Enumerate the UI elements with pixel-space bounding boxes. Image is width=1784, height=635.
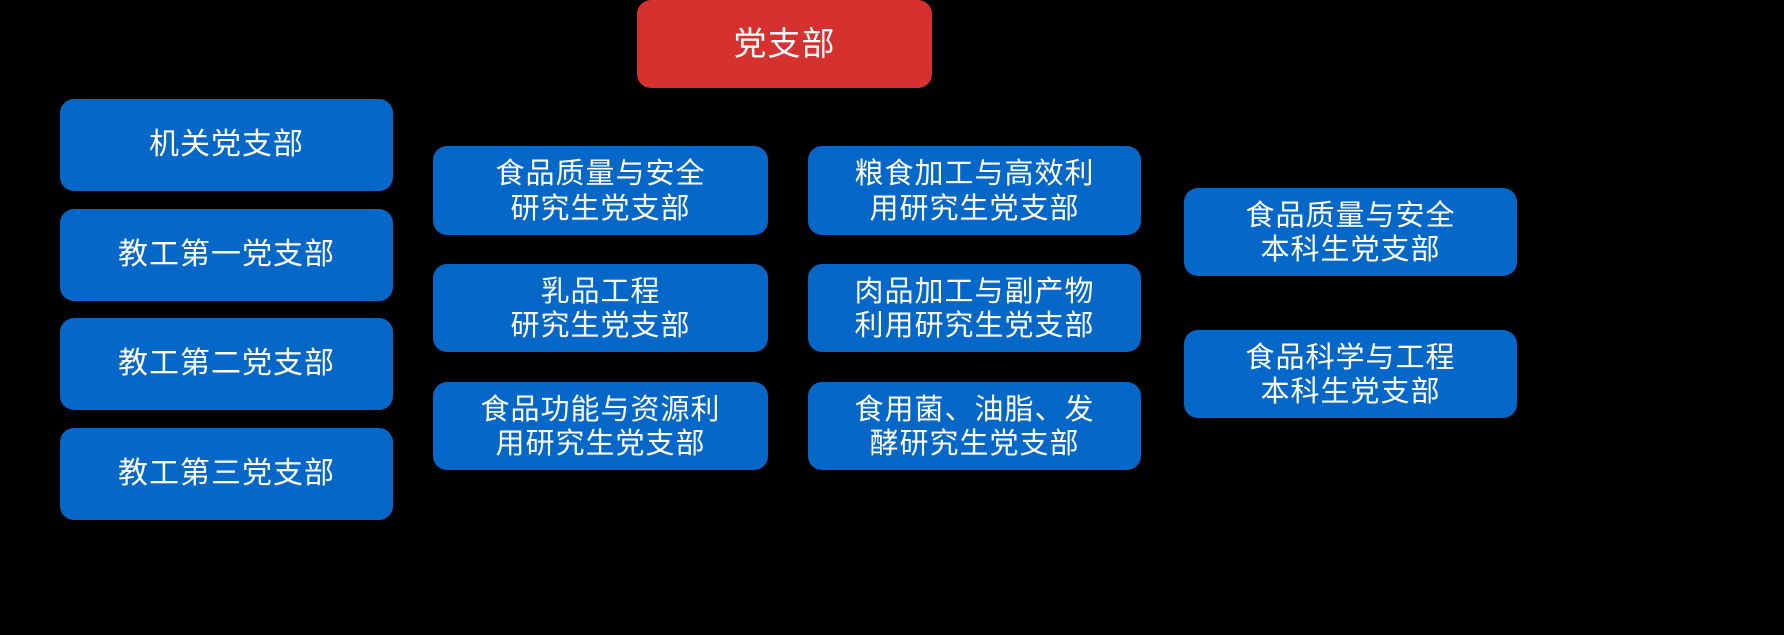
org-node-shipin-gongneng-yu-ziyuan-liyong-yanjiusheng[interactable]: 食品功能与资源利 用研究生党支部 — [433, 382, 768, 470]
org-node-label: 食用菌、油脂、发 酵研究生党支部 — [808, 392, 1141, 460]
org-node-label: 教工第三党支部 — [60, 456, 393, 491]
org-node-jiaogong-dier-dangzhibu[interactable]: 教工第二党支部 — [60, 318, 393, 410]
org-node-shipin-kexue-yu-gongcheng-benkesheng[interactable]: 食品科学与工程 本科生党支部 — [1184, 330, 1517, 418]
org-node-jiguan-dangzhibu[interactable]: 机关党支部 — [60, 99, 393, 191]
org-node-label: 肉品加工与副产物 利用研究生党支部 — [808, 274, 1141, 342]
org-node-jiaogong-disan-dangzhibu[interactable]: 教工第三党支部 — [60, 428, 393, 520]
org-node-rupin-gongcheng-yanjiusheng[interactable]: 乳品工程 研究生党支部 — [433, 264, 768, 352]
org-node-label: 机关党支部 — [60, 127, 393, 162]
org-node-roupin-jiagong-yu-fuchanwu-liyong-yanjiusheng[interactable]: 肉品加工与副产物 利用研究生党支部 — [808, 264, 1141, 352]
org-chart-canvas: 党支部 机关党支部 教工第一党支部 教工第二党支部 教工第三党支部 食品质量与安… — [0, 0, 1784, 635]
org-node-label: 食品功能与资源利 用研究生党支部 — [433, 392, 768, 460]
org-node-label: 食品质量与安全 本科生党支部 — [1184, 198, 1517, 266]
org-node-shipin-zhiliang-yu-anquan-yanjiusheng[interactable]: 食品质量与安全 研究生党支部 — [433, 146, 768, 235]
org-node-jiaogong-diyi-dangzhibu[interactable]: 教工第一党支部 — [60, 209, 393, 301]
org-node-root[interactable]: 党支部 — [637, 0, 932, 88]
org-node-label: 食品科学与工程 本科生党支部 — [1184, 340, 1517, 408]
org-node-root-label: 党支部 — [637, 25, 932, 64]
org-node-shiyongjun-youzhi-fajiao-yanjiusheng[interactable]: 食用菌、油脂、发 酵研究生党支部 — [808, 382, 1141, 470]
org-node-liangshi-jiagong-yu-gaoxiao-liyong-yanjiusheng[interactable]: 粮食加工与高效利 用研究生党支部 — [808, 146, 1141, 235]
org-node-label: 教工第一党支部 — [60, 237, 393, 272]
org-node-label: 食品质量与安全 研究生党支部 — [433, 156, 768, 224]
org-node-label: 粮食加工与高效利 用研究生党支部 — [808, 156, 1141, 224]
org-node-label: 乳品工程 研究生党支部 — [433, 274, 768, 342]
org-node-shipin-zhiliang-yu-anquan-benkesheng[interactable]: 食品质量与安全 本科生党支部 — [1184, 188, 1517, 276]
org-node-label: 教工第二党支部 — [60, 346, 393, 381]
